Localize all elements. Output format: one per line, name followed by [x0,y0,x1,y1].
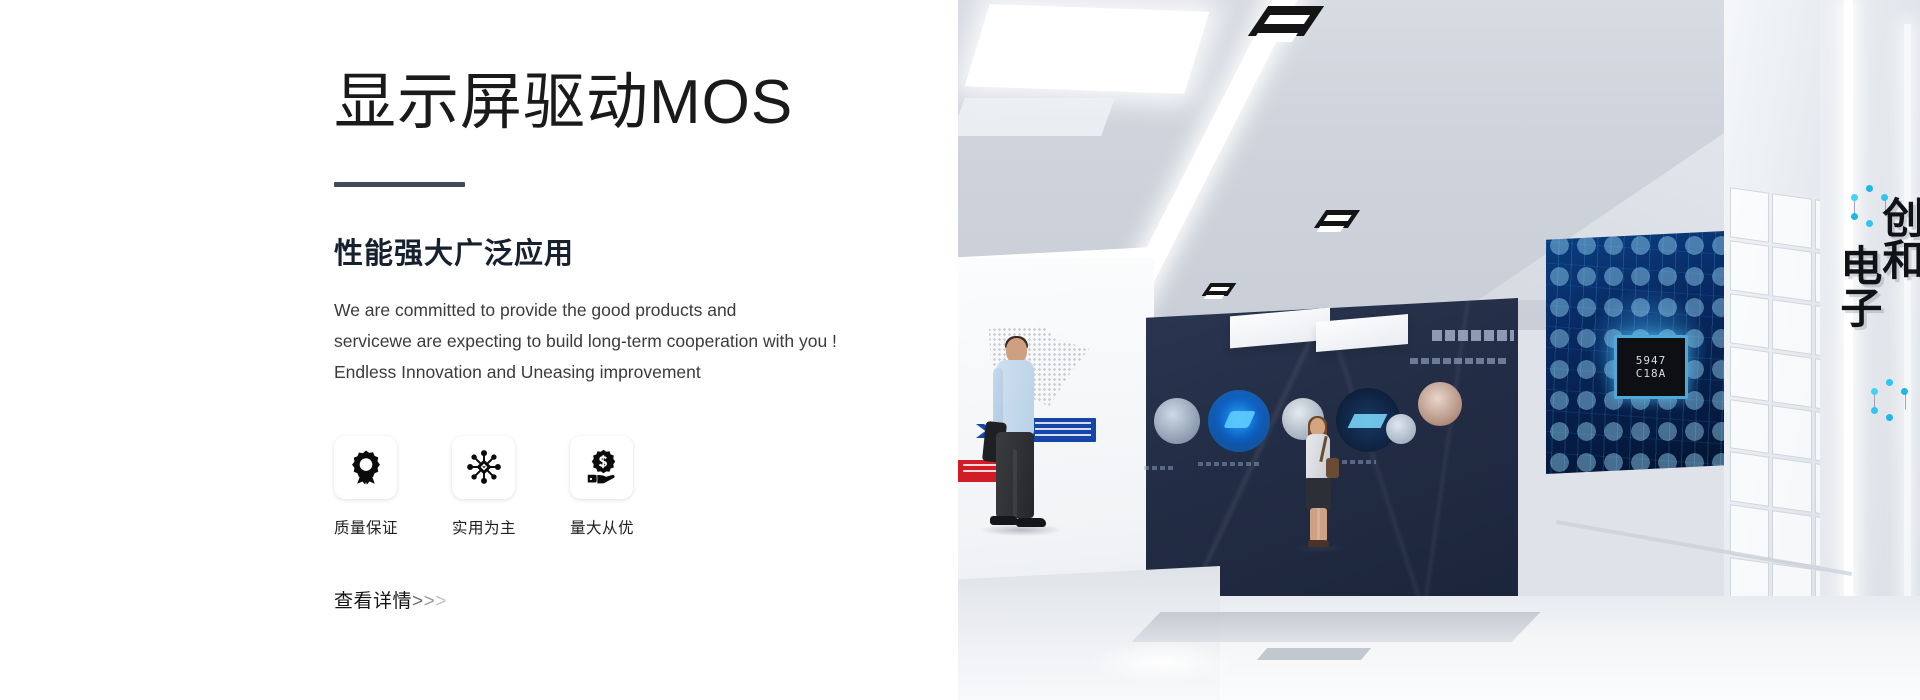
subheading: 性能强大广泛应用 [334,239,958,271]
chip-code-line-1: 5947 [1636,354,1667,367]
chip-graphic-icon: 5947 C18A [1614,335,1688,400]
figure-skirt [1306,478,1331,510]
feature-label: 量大从优 [570,516,634,538]
hero-text-panel: 显示屏驱动MOS 性能强大广泛应用 We are committed to pr… [0,0,958,700]
wall-brand-signage: 创和 电子 [1834,188,1920,438]
floor-vent-grille [1257,648,1371,660]
figure-legs [1310,508,1327,542]
feature-item-quality[interactable]: 质量保证 [334,436,452,538]
skylight-panel-icon [965,4,1210,94]
description-paragraph: We are committed to provide the good pro… [334,295,958,388]
chevron-right-icon-1: > [412,591,424,612]
exhibit-caption [1198,462,1260,466]
feature-icon-tile [334,436,397,499]
chip-code-line-2: C18A [1636,367,1667,380]
exhibit-circle-chip [1208,390,1270,452]
feature-label: 实用为主 [452,516,516,538]
figure-bag [1326,458,1339,478]
exhibit-circle-photo [1418,382,1462,426]
figure-shoe [1308,540,1329,547]
floor-dark-band [1132,612,1541,642]
feature-icon-tile [452,436,515,499]
description-line-1: We are committed to provide the good pro… [334,295,958,326]
skylight-panel-secondary [958,98,1115,136]
signage-column-left: 电子 [1836,244,1879,328]
exhibit-circle-photo [1386,414,1416,444]
floor-reflection [1088,640,1238,684]
description-line-3: Endless Innovation and Uneasing improvem… [334,357,958,388]
description-line-2: servicewe are expecting to build long-te… [334,326,958,357]
visitor-man-figure [976,338,1046,530]
led-display-screen: 5947 C18A [1546,230,1746,474]
exhibit-wall-subtitle [1410,358,1506,364]
chevron-right-icon-2: > [424,591,436,612]
exhibit-wall-title [1432,330,1514,341]
hand-money-icon [584,449,620,485]
view-details-link[interactable]: 查看详情>>> [334,586,447,613]
hero-banner: 显示屏驱动MOS 性能强大广泛应用 We are committed to pr… [0,0,1920,700]
visitor-woman-figure [1294,418,1338,550]
feature-item-practical[interactable]: 实用为主 [452,436,570,538]
showroom-photo: 5947 C18A 创和 电子 [958,0,1920,700]
title-divider [334,182,465,187]
feature-label: 质量保证 [334,516,398,538]
medal-ribbon-icon [348,449,384,485]
exhibit-caption [1144,466,1176,470]
network-hub-icon [466,449,502,485]
chevron-right-icon-3: > [435,591,447,612]
feature-list: 质量保证 [334,436,958,538]
feature-icon-tile [570,436,633,499]
figure-shoe [1016,518,1046,527]
page-title: 显示屏驱动MOS [334,72,958,134]
feature-item-bulk-price[interactable]: 量大从优 [570,436,688,538]
signage-column-right: 创和 [1878,196,1920,280]
figure-trousers [996,432,1034,518]
view-details-label: 查看详情 [334,591,412,612]
exhibit-circle-photo [1154,398,1200,444]
figure-shoe [990,516,1018,525]
